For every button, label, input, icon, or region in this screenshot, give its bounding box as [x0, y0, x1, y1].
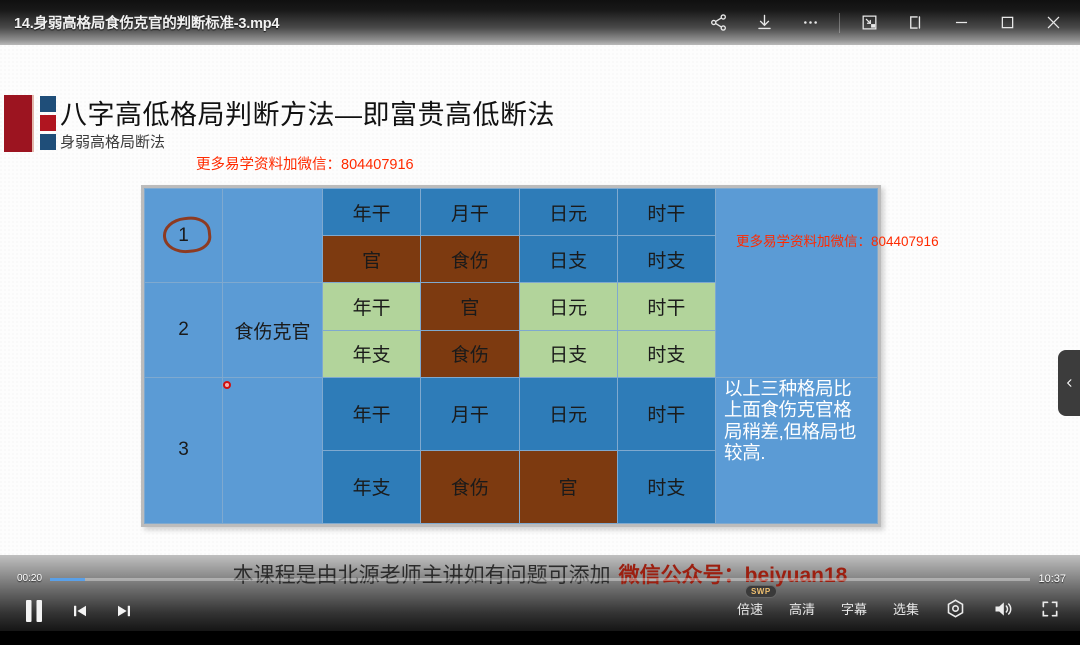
settings-button[interactable] — [945, 598, 966, 619]
cell-r3-top-3: 时干 — [617, 377, 715, 450]
mini-window-icon[interactable] — [892, 0, 938, 45]
slide-subtitle: 身弱高格局断法 — [60, 131, 165, 152]
speed-badge: SWP — [745, 585, 777, 598]
cell-r2-bot-1: 食伤 — [421, 330, 519, 377]
quality-button[interactable]: 高清 — [789, 599, 815, 618]
cell-r1-top-1: 月干 — [421, 189, 519, 236]
cell-r3-top-0: 年干 — [323, 377, 421, 450]
cell-r1-bot-1: 食伤 — [421, 236, 519, 283]
next-button[interactable] — [114, 602, 134, 620]
titlebar-controls — [695, 0, 1080, 45]
cell-r2-bot-0: 年支 — [323, 330, 421, 377]
chevron-left-icon — [1064, 375, 1075, 391]
cell-r2-top-1: 官 — [421, 283, 519, 330]
maximize-icon[interactable] — [984, 0, 1030, 45]
titlebar-divider — [839, 13, 840, 33]
annotation-dot — [223, 381, 231, 389]
note-text: 以上三种格局比上面食伤克官格局稍差,但格局也较高. — [716, 378, 877, 464]
cell-r3-bot-0: 年支 — [323, 450, 421, 523]
cell-r1-top-2: 日元 — [519, 189, 617, 236]
current-time-label: 00:20 — [17, 573, 42, 584]
duration-label: 10:37 — [1038, 573, 1066, 585]
cell-r1-top-3: 时干 — [617, 189, 715, 236]
download-icon[interactable] — [741, 0, 787, 45]
video-player-window: 14.身弱高格局食伤克官的判断标准-3.mp4 — [0, 0, 1080, 645]
cell-r2-top-2: 日元 — [519, 283, 617, 330]
volume-icon — [992, 599, 1014, 619]
player-control-bar: 本课程是由北源老师主讲如有问题可添加 微信公众号：beiyuan18 — [0, 555, 1080, 631]
cell-r3-bot-3: 时支 — [617, 450, 715, 523]
table-row: 3 年干 月干 日元 时干 以上三种格局比上面食伤克官格局稍差,但格局也较高. — [145, 377, 878, 450]
next-icon — [114, 602, 134, 620]
table-row: 1 年干 月干 日元 时干 — [145, 189, 878, 236]
deco-red-block — [4, 95, 34, 152]
pause-button[interactable] — [22, 598, 46, 624]
bazi-pattern-table: 更多易学资料加微信：804407916 1 年干 月干 日元 时干 — [141, 185, 881, 527]
previous-icon — [70, 602, 90, 620]
fullscreen-button[interactable] — [1040, 599, 1060, 619]
side-panel-toggle[interactable] — [1058, 350, 1080, 416]
slide-title: 八字高低格局判断方法—即富贵高低断法 — [60, 93, 555, 132]
pause-icon — [22, 598, 46, 624]
picture-in-picture-icon[interactable] — [846, 0, 892, 45]
close-icon[interactable] — [1030, 0, 1076, 45]
window-titlebar: 14.身弱高格局食伤克官的判断标准-3.mp4 — [0, 0, 1080, 45]
row-label-2: 食伤克官 — [223, 283, 323, 377]
volume-button[interactable] — [992, 599, 1014, 619]
row-number-2: 2 — [145, 283, 223, 377]
speed-button[interactable]: SWP 倍速 — [737, 599, 763, 618]
share-icon[interactable] — [695, 0, 741, 45]
subtitle-button[interactable]: 字幕 — [841, 599, 867, 618]
window-title: 14.身弱高格局食伤克官的判断标准-3.mp4 — [14, 12, 279, 33]
cell-r3-top-1: 月干 — [421, 377, 519, 450]
settings-icon — [945, 598, 966, 619]
cell-r3-top-2: 日元 — [519, 377, 617, 450]
subtitle-highlight-text: 微信公众号：beiyuan18 — [619, 559, 848, 589]
watermark-top: 更多易学资料加微信：804407916 — [196, 153, 414, 174]
slide-header-decoration — [4, 95, 56, 152]
cell-r1-bot-0: 官 — [323, 236, 421, 283]
fullscreen-icon — [1040, 599, 1060, 619]
cell-r2-top-0: 年干 — [323, 283, 421, 330]
speed-label: 倍速 — [737, 602, 763, 617]
row-number-1: 1 — [145, 189, 223, 283]
row-label-3 — [223, 377, 323, 523]
minimize-icon[interactable] — [938, 0, 984, 45]
cell-r1-top-0: 年干 — [323, 189, 421, 236]
playlist-button[interactable]: 选集 — [893, 599, 919, 618]
cell-r1-bot-2: 日支 — [519, 236, 617, 283]
previous-button[interactable] — [70, 602, 90, 620]
deco-square-navy-bottom — [40, 134, 56, 150]
cell-r3-bot-1: 食伤 — [421, 450, 519, 523]
slide-canvas: 八字高低格局判断方法—即富贵高低断法 身弱高格局断法 更多易学资料加微信：804… — [0, 45, 1080, 555]
progress-bar[interactable] — [50, 578, 1030, 581]
cell-r2-bot-3: 时支 — [617, 330, 715, 377]
cell-r2-top-3: 时干 — [617, 283, 715, 330]
transport-controls — [22, 598, 134, 624]
deco-square-navy-top — [40, 96, 56, 112]
cell-r2-bot-2: 日支 — [519, 330, 617, 377]
player-options: SWP 倍速 高清 字幕 选集 — [737, 598, 1060, 619]
cell-r3-bot-2: 官 — [519, 450, 617, 523]
more-options-icon[interactable] — [787, 0, 833, 45]
note-cell-bottom: 以上三种格局比上面食伤克官格局稍差,但格局也较高. — [716, 377, 878, 523]
deco-square-red — [40, 115, 56, 131]
video-subtitle-overlay: 本课程是由北源老师主讲如有问题可添加 微信公众号：beiyuan18 — [0, 559, 1080, 589]
bottom-black-strip — [0, 631, 1080, 645]
progress-fill — [50, 578, 85, 581]
subtitle-main-text: 本课程是由北源老师主讲如有问题可添加 — [233, 559, 611, 589]
note-cell-top — [716, 189, 878, 378]
cell-r1-bot-3: 时支 — [617, 236, 715, 283]
row-number-3: 3 — [145, 377, 223, 523]
row-label-1 — [223, 189, 323, 283]
